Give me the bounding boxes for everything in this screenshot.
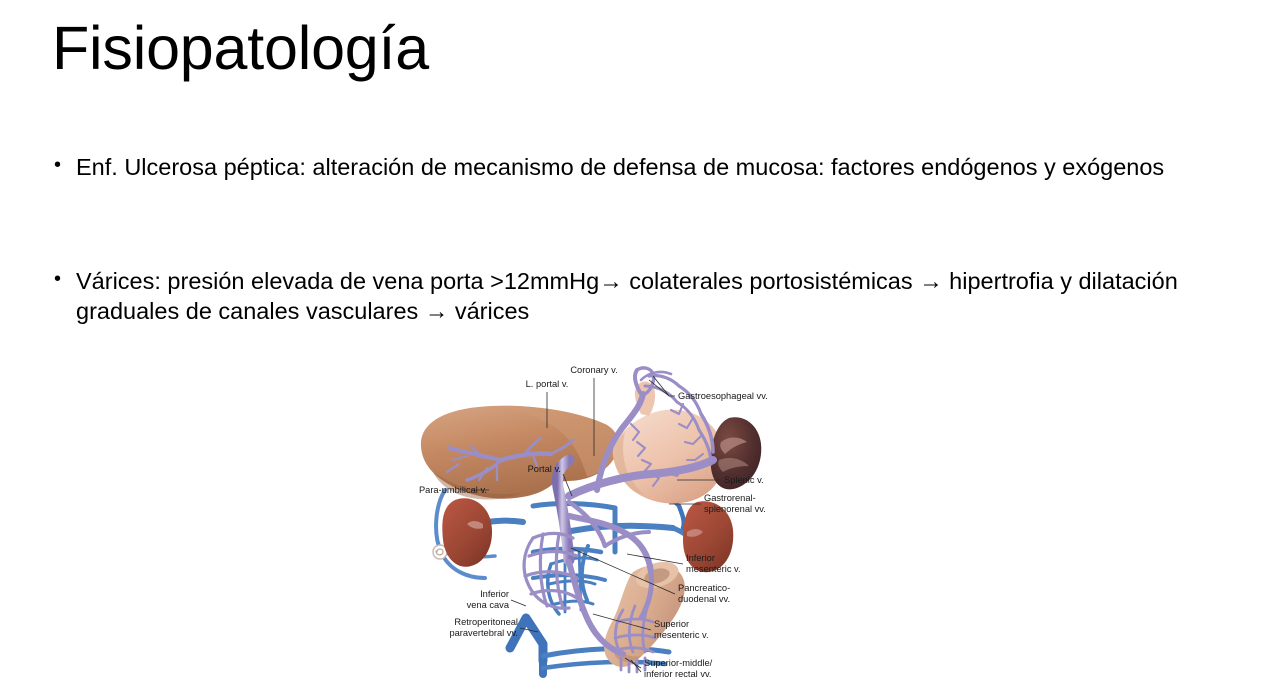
label-inferior-vena-cava-2: vena cava — [467, 600, 510, 610]
label-superior-middle-inferior-rectal-vv: Superior-middle/ — [644, 658, 713, 668]
label-gastrorenal-splenorenal-vv-2: splenorenal vv. — [704, 504, 766, 514]
label-coronary-v: Coronary v. — [570, 365, 617, 375]
label-inferior-vena-cava: Inferior — [480, 589, 509, 599]
label-superior-mesenteric-v-2: mesenteric v. — [654, 630, 709, 640]
diagram-svg: Coronary v. L. portal v. Gastroesophagea… — [383, 356, 801, 696]
leader-inferior-mesenteric-v — [627, 554, 683, 564]
slide-canvas: Fisiopatología • Enf. Ulcerosa péptica: … — [0, 0, 1264, 696]
label-retroperitoneal-paravertebral-vv: Retroperitoneal — [454, 617, 518, 627]
label-inferior-mesenteric-v-2: mesenteric v. — [686, 564, 741, 574]
label-splenic-v: Splenic v. — [724, 475, 764, 485]
bullet-text-ulcerosa-peptica: Enf. Ulcerosa péptica: alteración de mec… — [76, 152, 1185, 183]
page-title: Fisiopatología — [52, 14, 429, 82]
label-para-umbilical-v: Para-umbilical v. — [419, 485, 487, 495]
bullet-marker-icon: • — [50, 152, 76, 180]
bullet-list: • Enf. Ulcerosa péptica: alteración de m… — [50, 152, 1185, 327]
list-item: • Várices: presión elevada de vena porta… — [50, 266, 1185, 327]
list-item: • Enf. Ulcerosa péptica: alteración de m… — [50, 152, 1185, 183]
label-retroperitoneal-paravertebral-vv-2: paravertebral vv. — [449, 628, 518, 638]
label-pancreaticoduodenal-vv-2: duodenal vv. — [678, 594, 730, 604]
bullet-text-varices: Várices: presión elevada de vena porta >… — [76, 266, 1185, 327]
label-pancreaticoduodenal-vv: Pancreatico- — [678, 583, 730, 593]
label-l-portal-v: L. portal v. — [526, 379, 569, 389]
bullet-marker-icon: • — [50, 266, 76, 294]
portal-venous-system-diagram: Coronary v. L. portal v. Gastroesophagea… — [383, 356, 801, 696]
label-superior-middle-inferior-rectal-vv-2: inferior rectal vv. — [644, 669, 712, 679]
label-inferior-mesenteric-v: Inferior — [686, 553, 715, 563]
label-gastroesophageal-vv: Gastroesophageal vv. — [678, 391, 768, 401]
label-gastrorenal-splenorenal-vv: Gastrorenal- — [704, 493, 756, 503]
label-superior-mesenteric-v: Superior — [654, 619, 689, 629]
label-portal-v: Portal v. — [528, 464, 561, 474]
